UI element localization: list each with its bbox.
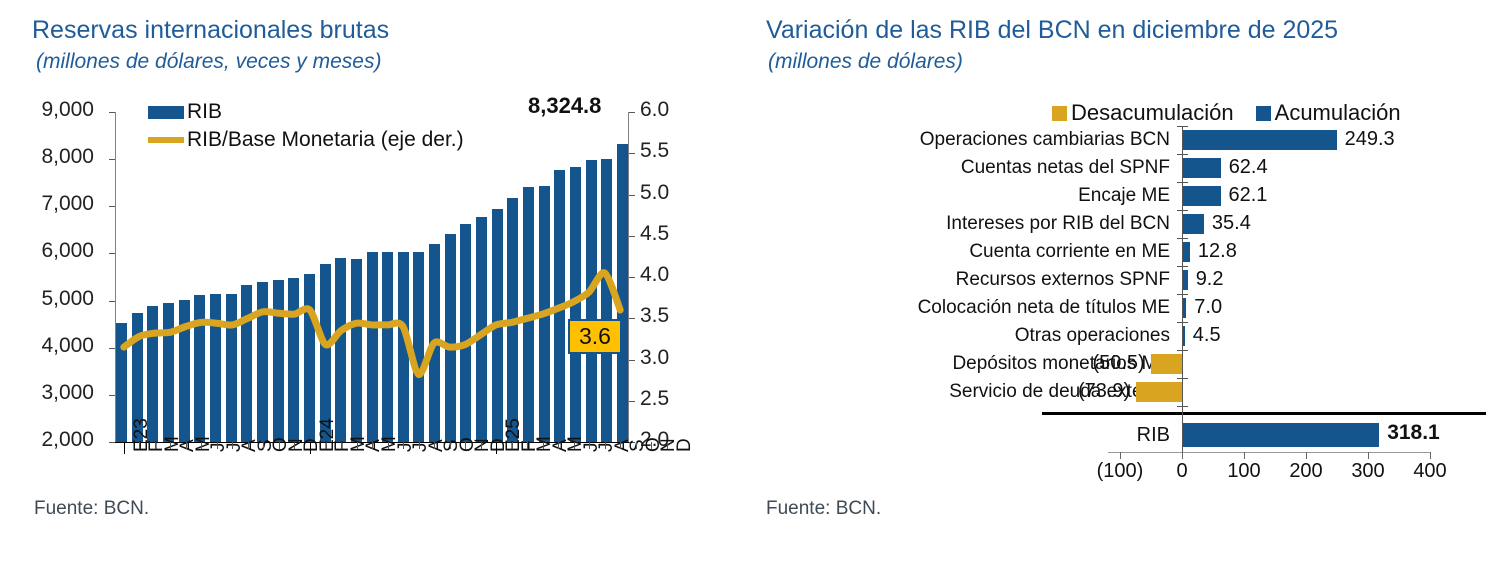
row-tick-mark: [1177, 350, 1188, 351]
chart-row: Recursos externos SPNF9.2: [766, 266, 1466, 294]
row-tick-mark: [1177, 126, 1188, 127]
row-bar: [1182, 242, 1190, 262]
legend-item-desacumulacion[interactable]: Desacumulación: [1052, 100, 1234, 126]
row-bar-track: 35.4: [1178, 210, 1456, 238]
x-axis-tick-mark: [1182, 452, 1183, 459]
legend-label-acumulacion: Acumulación: [1275, 100, 1401, 126]
row-value-label: 249.3: [1345, 128, 1395, 151]
right-chart-total-separator: [1042, 412, 1486, 415]
row-bar-track: 4.5: [1178, 322, 1456, 350]
chart-row: Cuentas netas del SPNF62.4: [766, 154, 1466, 182]
right-chart-zero-line: [1182, 126, 1183, 412]
row-tick-mark: [1177, 154, 1188, 155]
x-axis-tick-label: (100): [1097, 460, 1144, 483]
row-bar-track: 62.1: [1178, 182, 1456, 210]
x-axis-tick-label: 400: [1413, 460, 1446, 483]
row-tick-mark: [1177, 238, 1188, 239]
row-bar: [1182, 186, 1221, 206]
row-bar-track: (50.5): [1178, 350, 1456, 378]
row-value-label: 62.4: [1229, 156, 1268, 179]
x-axis-tick-mark: [1120, 452, 1121, 459]
right-chart-title: Variación de las RIB del BCN en diciembr…: [766, 16, 1338, 45]
row-value-label: 7.0: [1194, 296, 1222, 319]
row-category-label: Cuentas netas del SPNF: [766, 157, 1178, 179]
row-bar-track: 7.0: [1178, 294, 1456, 322]
row-bar-track: 9.2: [1178, 266, 1456, 294]
row-bar: [1182, 158, 1221, 178]
right-chart-panel: Variación de las RIB del BCN en diciembr…: [0, 0, 1486, 564]
x-axis-tick-mark: [1368, 452, 1369, 459]
row-category-label: Operaciones cambiarias BCN: [766, 129, 1178, 151]
right-chart-total-value: 318.1: [1387, 421, 1440, 445]
right-chart-total-track: 318.1: [1178, 418, 1456, 452]
row-bar: [1136, 382, 1182, 402]
row-category-label: Encaje ME: [766, 185, 1178, 207]
legend-label-desacumulacion: Desacumulación: [1071, 100, 1234, 126]
row-tick-mark: [1177, 266, 1188, 267]
chart-row: Operaciones cambiarias BCN249.3: [766, 126, 1466, 154]
chart-row: Encaje ME62.1: [766, 182, 1466, 210]
right-chart-subtitle: (millones de dólares): [768, 50, 963, 74]
row-bar: [1182, 214, 1204, 234]
right-chart-total-bar: [1182, 423, 1379, 447]
x-axis-tick-mark: [1430, 452, 1431, 459]
x-axis-tick-label: 300: [1351, 460, 1384, 483]
row-tick-mark: [1177, 294, 1188, 295]
right-chart-zero-line-total: [1182, 412, 1183, 454]
right-chart-legend: Desacumulación Acumulación: [1052, 100, 1401, 126]
row-tick-mark: [1177, 322, 1188, 323]
row-category-label: Recursos externos SPNF: [766, 269, 1178, 291]
row-value-label: 4.5: [1193, 324, 1221, 347]
row-value-label: (50.5): [1067, 352, 1145, 375]
row-value-label: (73.9): [1052, 380, 1130, 403]
x-axis-tick-mark: [1306, 452, 1307, 459]
row-value-label: 9.2: [1196, 268, 1224, 291]
row-bar-track: (73.9): [1178, 378, 1456, 406]
row-bar-track: 62.4: [1178, 154, 1456, 182]
chart-row: Intereses por RIB del BCN35.4: [766, 210, 1466, 238]
acumulacion-swatch-icon: [1256, 106, 1271, 121]
x-axis-tick-label: 100: [1227, 460, 1260, 483]
row-category-label: Otras operaciones: [766, 325, 1178, 347]
row-tick-mark: [1177, 182, 1188, 183]
row-category-label: Intereses por RIB del BCN: [766, 213, 1178, 235]
row-value-label: 62.1: [1229, 184, 1268, 207]
row-bar: [1182, 130, 1337, 150]
row-category-label: Colocación neta de títulos ME: [766, 297, 1178, 319]
right-chart-x-axis-line: [1108, 452, 1430, 453]
right-chart-total-label: RIB: [766, 424, 1178, 447]
row-tick-mark: [1177, 210, 1188, 211]
row-tick-mark: [1177, 378, 1188, 379]
row-value-label: 35.4: [1212, 212, 1251, 235]
chart-row: Depósitos monetarios ME(50.5): [766, 350, 1466, 378]
right-chart-total-row: RIB 318.1: [766, 418, 1466, 452]
row-tick-mark: [1177, 406, 1188, 407]
right-chart-rows: Operaciones cambiarias BCN249.3Cuentas n…: [766, 126, 1466, 406]
row-value-label: 12.8: [1198, 240, 1237, 263]
desacumulacion-swatch-icon: [1052, 106, 1067, 121]
x-axis-tick-label: 200: [1289, 460, 1322, 483]
x-axis-tick-label: 0: [1176, 460, 1187, 483]
row-category-label: Cuenta corriente en ME: [766, 241, 1178, 263]
legend-item-acumulacion[interactable]: Acumulación: [1256, 100, 1401, 126]
chart-row: Servicio de deuda externa(73.9): [766, 378, 1466, 406]
row-bar-track: 12.8: [1178, 238, 1456, 266]
row-bar-track: 249.3: [1178, 126, 1456, 154]
chart-row: Otras operaciones4.5: [766, 322, 1466, 350]
row-bar: [1151, 354, 1182, 374]
x-axis-tick-mark: [1244, 452, 1245, 459]
right-chart-source: Fuente: BCN.: [766, 498, 881, 520]
chart-row: Colocación neta de títulos ME7.0: [766, 294, 1466, 322]
chart-row: Cuenta corriente en ME12.8: [766, 238, 1466, 266]
